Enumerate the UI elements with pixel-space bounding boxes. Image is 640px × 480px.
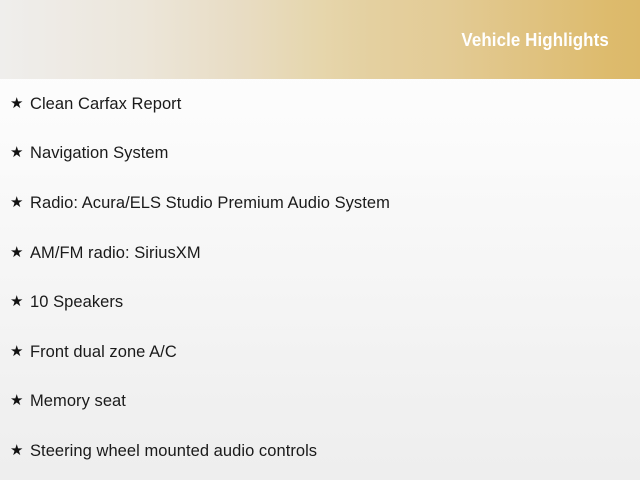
star-icon: ★ bbox=[10, 393, 30, 408]
highlight-label: Navigation System bbox=[30, 143, 640, 163]
highlight-label: 10 Speakers bbox=[30, 292, 640, 312]
highlight-label: Memory seat bbox=[30, 391, 640, 411]
highlight-label: AM/FM radio: SiriusXM bbox=[30, 243, 640, 263]
header-banner: Vehicle Highlights bbox=[0, 0, 640, 79]
star-icon: ★ bbox=[10, 344, 30, 359]
highlight-label: Radio: Acura/ELS Studio Premium Audio Sy… bbox=[30, 193, 640, 213]
list-item: ★ Clean Carfax Report bbox=[0, 79, 640, 129]
star-icon: ★ bbox=[10, 195, 30, 210]
list-item: ★ Steering wheel mounted audio controls bbox=[0, 426, 640, 476]
list-item: ★ Radio: Acura/ELS Studio Premium Audio … bbox=[0, 178, 640, 228]
list-item: ★ AM/FM radio: SiriusXM bbox=[0, 228, 640, 278]
star-icon: ★ bbox=[10, 145, 30, 160]
highlight-label: Front dual zone A/C bbox=[30, 342, 640, 362]
list-item: ★ Front dual zone A/C bbox=[0, 327, 640, 377]
star-icon: ★ bbox=[10, 96, 30, 111]
star-icon: ★ bbox=[10, 443, 30, 458]
star-icon: ★ bbox=[10, 245, 30, 260]
page-title: Vehicle Highlights bbox=[462, 30, 609, 50]
list-item: ★ Memory seat bbox=[0, 377, 640, 427]
star-icon: ★ bbox=[10, 294, 30, 309]
list-item: ★ Navigation System bbox=[0, 129, 640, 179]
highlight-label: Steering wheel mounted audio controls bbox=[30, 441, 640, 461]
vehicle-highlights-page: Vehicle Highlights ★ Clean Carfax Report… bbox=[0, 0, 640, 480]
highlight-label: Clean Carfax Report bbox=[30, 94, 640, 114]
list-item: ★ 10 Speakers bbox=[0, 277, 640, 327]
highlights-list: ★ Clean Carfax Report ★ Navigation Syste… bbox=[0, 79, 640, 476]
